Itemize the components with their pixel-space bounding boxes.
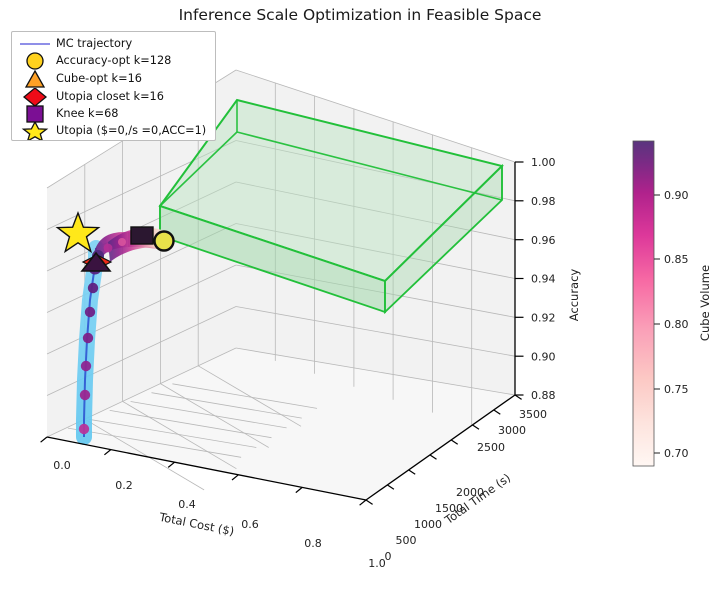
legend-label-5: Utopia ($=0,/s =0,ACC=1) (56, 122, 206, 140)
x-tick-4: 0.8 (304, 537, 322, 550)
x-tick-2: 0.4 (178, 498, 196, 511)
z-tick-6: 1.00 (531, 156, 556, 169)
legend-item-utopia[interactable]: Utopia ($=0,/s =0,ACC=1) (12, 122, 215, 140)
y-tick-0: 0 (385, 550, 392, 563)
figure-root: Inference Scale Optimization in Feasible… (0, 0, 721, 590)
colorbar-tick-3: 0.75 (664, 383, 689, 396)
x-axis-label: Total Cost ($) (157, 510, 235, 539)
legend-item-accuracy-opt[interactable]: Accuracy-opt k=128 (12, 52, 215, 70)
z-tick-2: 0.92 (531, 312, 556, 325)
colorbar-tick-2: 0.80 (664, 318, 689, 331)
legend-item-utopia-closest[interactable]: Utopia closet k=16 (12, 88, 215, 106)
y-tick-1: 500 (396, 534, 417, 547)
z-tick-1: 0.90 (531, 350, 556, 363)
y-tick-5: 2500 (477, 441, 505, 454)
y-axis-label: Total Time (s) (441, 471, 513, 528)
colorbar-tick-1: 0.85 (664, 253, 689, 266)
z-tick-4: 0.96 (531, 234, 556, 247)
colorbar-tick-4: 0.70 (664, 447, 689, 460)
square-marker-icon (18, 105, 52, 123)
x-tick-0: 0.0 (53, 459, 71, 472)
chart-title: Inference Scale Optimization in Feasible… (179, 6, 542, 24)
legend-label-2: Cube-opt k=16 (56, 70, 142, 88)
star-marker-icon (18, 122, 52, 140)
legend-label-3: Utopia closet k=16 (56, 88, 164, 106)
legend-item-mc-trajectory[interactable]: MC trajectory (12, 35, 215, 53)
y-tick-7: 3500 (519, 408, 547, 421)
legend-item-cube-opt[interactable]: Cube-opt k=16 (12, 70, 215, 88)
x-tick-1: 0.2 (115, 479, 133, 492)
triangle-marker-icon (18, 70, 52, 88)
colorbar-label: Cube Volume (698, 265, 712, 341)
marker-accuracy-opt-circle (155, 232, 174, 251)
colorbar-gradient[interactable] (633, 141, 654, 466)
colorbar-tick-0: 0.90 (664, 189, 689, 202)
colorbar[interactable]: 0.90 0.85 0.80 0.75 0.70 Cube Volume (633, 141, 712, 466)
circle-marker-icon (18, 52, 52, 70)
legend[interactable]: MC trajectory Accuracy-opt k=128 Cube-op… (11, 31, 216, 141)
colorbar-ticks (654, 195, 660, 453)
y-tick-2: 1000 (414, 518, 442, 531)
legend-label-0: MC trajectory (56, 35, 132, 53)
y-tick-6: 3000 (498, 424, 526, 437)
x-tick-3: 0.6 (241, 518, 259, 531)
z-tick-5: 0.98 (531, 195, 556, 208)
diamond-marker-icon (18, 88, 52, 106)
x-tick-5: 1.0 (368, 557, 386, 570)
legend-label-1: Accuracy-opt k=128 (56, 52, 171, 70)
z-axis-ticks: 0.88 0.90 0.92 0.94 0.96 0.98 1.00 Accur… (515, 156, 581, 402)
z-tick-3: 0.94 (531, 273, 556, 286)
legend-label-4: Knee k=68 (56, 105, 118, 123)
marker-knee-square (131, 227, 153, 244)
line-icon (18, 35, 52, 53)
z-tick-0: 0.88 (531, 389, 556, 402)
legend-item-knee[interactable]: Knee k=68 (12, 105, 215, 123)
z-axis-label: Accuracy (567, 269, 581, 322)
